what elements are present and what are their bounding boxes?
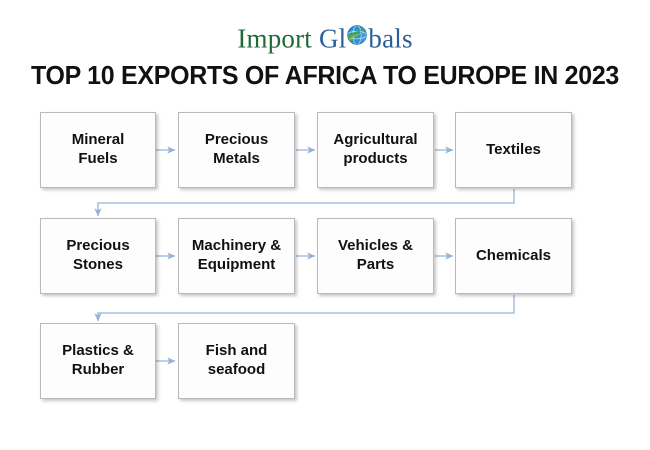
brand-logo: Import Gl bals: [0, 24, 650, 52]
flow-node-label: Chemicals: [470, 247, 557, 266]
flow-node-machinery-equipment[interactable]: Machinery & Equipment: [178, 218, 295, 294]
flow-node-agricultural-products[interactable]: Agricultural products: [317, 112, 434, 188]
flow-node-label: Plastics & Rubber: [56, 342, 140, 380]
globe-icon: [346, 24, 368, 46]
flow-node-precious-stones[interactable]: Precious Stones: [40, 218, 156, 294]
flow-node-chemicals[interactable]: Chemicals: [455, 218, 572, 294]
infographic-canvas: Import Gl bals TOP 10 EXPORTS OF AFRICA …: [0, 0, 650, 450]
flow-node-label: Vehicles & Parts: [332, 237, 419, 275]
flow-node-vehicles-parts[interactable]: Vehicles & Parts: [317, 218, 434, 294]
flow-node-label: Fish and seafood: [200, 342, 274, 380]
flow-node-label: Precious Stones: [60, 237, 135, 275]
flow-node-precious-metals[interactable]: Precious Metals: [178, 112, 295, 188]
page-title: TOP 10 EXPORTS OF AFRICA TO EUROPE IN 20…: [13, 60, 637, 91]
flow-node-label: Agricultural products: [327, 131, 423, 169]
flow-node-fish-seafood[interactable]: Fish and seafood: [178, 323, 295, 399]
logo-text-gl: Gl: [319, 23, 346, 53]
flow-node-label: Mineral Fuels: [66, 131, 131, 169]
logo-text-import: Import: [237, 23, 312, 53]
flow-node-textiles[interactable]: Textiles: [455, 112, 572, 188]
flow-node-plastics-rubber[interactable]: Plastics & Rubber: [40, 323, 156, 399]
logo-text-bals: bals: [368, 23, 412, 53]
flow-node-label: Textiles: [480, 141, 547, 160]
flow-node-mineral-fuels[interactable]: Mineral Fuels: [40, 112, 156, 188]
flow-node-label: Machinery & Equipment: [186, 237, 287, 275]
flow-node-label: Precious Metals: [199, 131, 274, 169]
